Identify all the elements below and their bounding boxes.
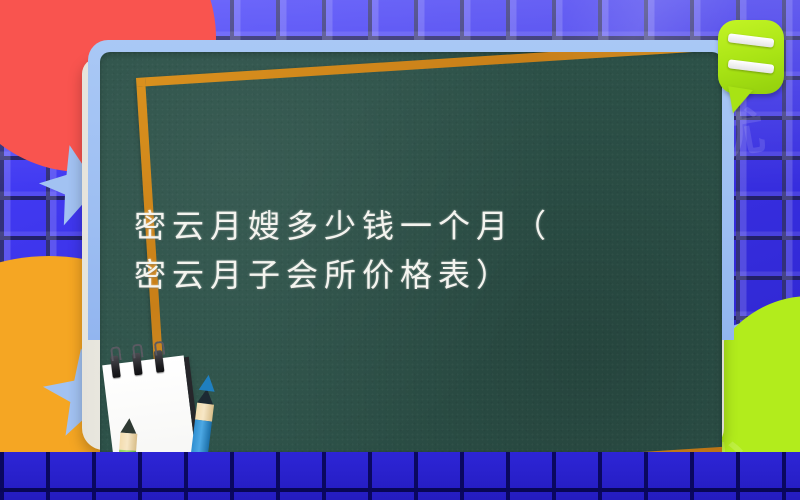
pencil-tip (120, 418, 137, 434)
poster-canvas: 天 优 优 密云月嫂多少钱一个月（ 密云月子会所价格表） (0, 0, 800, 500)
notepad-ring (132, 353, 143, 376)
pencil-wood (195, 403, 214, 422)
spiral-notepad (102, 355, 196, 464)
chalk-text-line-2: 密云月子会所价格表） (134, 251, 720, 300)
chalk-text-block: 密云月嫂多少钱一个月（ 密云月子会所价格表） (134, 202, 720, 299)
chalk-text-line-1: 密云月嫂多少钱一个月（ (134, 202, 720, 251)
speech-bubble-tail (724, 86, 753, 116)
notepad-ring (110, 355, 121, 378)
pencil-wood (119, 433, 137, 451)
notepad-ring (154, 350, 165, 373)
wall-bottom-band (0, 452, 800, 500)
pencil-cap (199, 374, 217, 392)
speech-bubble-icon (718, 20, 784, 94)
blackboard-surface: 密云月嫂多少钱一个月（ 密云月子会所价格表） (100, 52, 722, 452)
